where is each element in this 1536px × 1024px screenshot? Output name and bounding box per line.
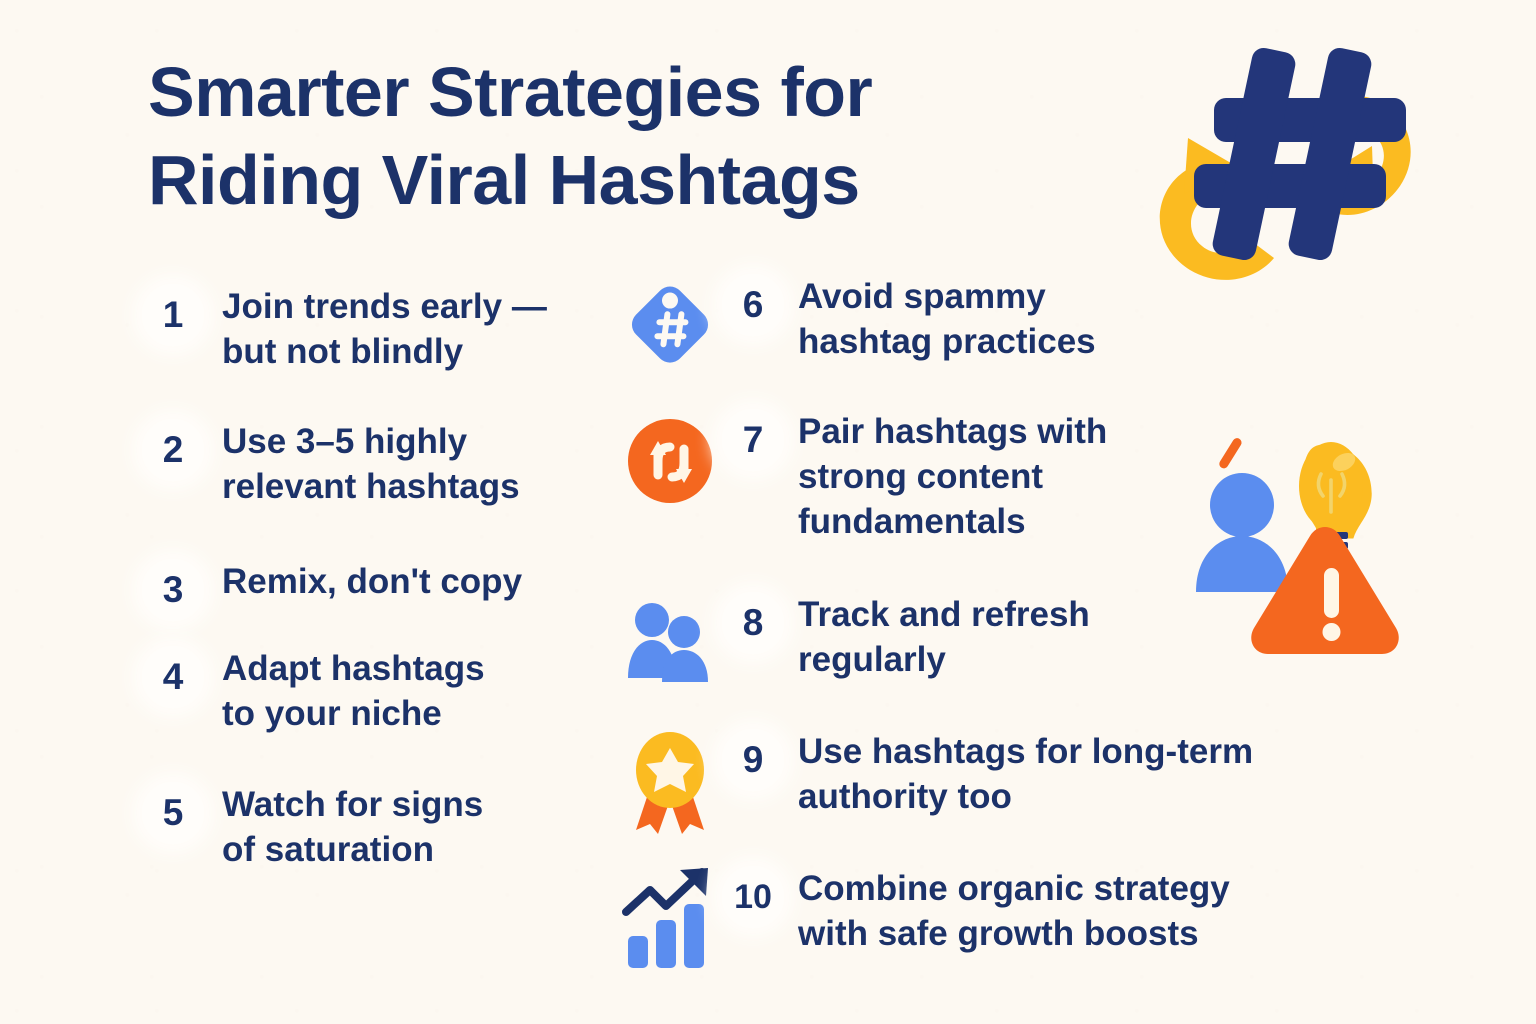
item-number-badge: 7 (722, 409, 784, 471)
list-item[interactable]: 5 Watch for signs of saturation (142, 782, 483, 872)
item-text: Pair hashtags with strong content fundam… (784, 409, 1107, 544)
item-text: Remix, don't copy (208, 559, 522, 604)
item-number-badge: 2 (142, 419, 204, 481)
two-people-icon (618, 592, 722, 696)
list-item[interactable]: 7 Pair hashtags with strong content fund… (618, 409, 1107, 544)
list-item[interactable]: 4 Adapt hashtags to your niche (142, 646, 485, 736)
item-text: Adapt hashtags to your niche (208, 646, 485, 736)
list-item[interactable]: 3 Remix, don't copy (142, 559, 522, 621)
person-head (1210, 473, 1274, 537)
growth-chart-icon (618, 866, 722, 970)
item-number-badge: 1 (142, 284, 204, 346)
item-number-badge: 10 (722, 866, 784, 928)
item-text: Use 3–5 highly relevant hashtags (208, 419, 520, 509)
item-number-badge: 4 (142, 646, 204, 708)
list-item[interactable]: 8 Track and refresh regularly (618, 592, 1090, 696)
item-text: Avoid spammy hashtag practices (784, 274, 1096, 364)
item-text: Use hashtags for long-term authority too (784, 729, 1253, 819)
item-number-badge: 5 (142, 782, 204, 844)
item-number-badge: 9 (722, 729, 784, 791)
item-text: Track and refresh regularly (784, 592, 1090, 682)
item-text: Watch for signs of saturation (208, 782, 483, 872)
list-item[interactable]: 9 Use hashtags for long-term authority t… (618, 729, 1253, 833)
list-item[interactable]: 6 Avoid spammy hashtag practices (618, 274, 1096, 378)
item-number-badge: 3 (142, 559, 204, 621)
person-body (1196, 536, 1288, 592)
hashtag-with-circular-arrows-icon (1128, 34, 1438, 286)
item-text: Join trends early — but not blindly (208, 284, 547, 374)
item-number-badge: 6 (722, 274, 784, 336)
item-text: Combine organic strategy with safe growt… (784, 866, 1230, 956)
price-tag-hashtag-icon (618, 274, 722, 378)
list-item[interactable]: 1 Join trends early — but not blindly (142, 284, 547, 374)
item-number-badge: 8 (722, 592, 784, 654)
page-title: Smarter Strategies for Riding Viral Hash… (148, 48, 1108, 224)
person-lightbulb-warning-icon-cluster (1186, 414, 1416, 664)
award-medal-icon (618, 729, 722, 833)
refresh-cycle-icon (618, 409, 722, 513)
list-item[interactable]: 10 Combine organic strategy with safe gr… (618, 866, 1230, 970)
list-item[interactable]: 2 Use 3–5 highly relevant hashtags (142, 419, 520, 509)
